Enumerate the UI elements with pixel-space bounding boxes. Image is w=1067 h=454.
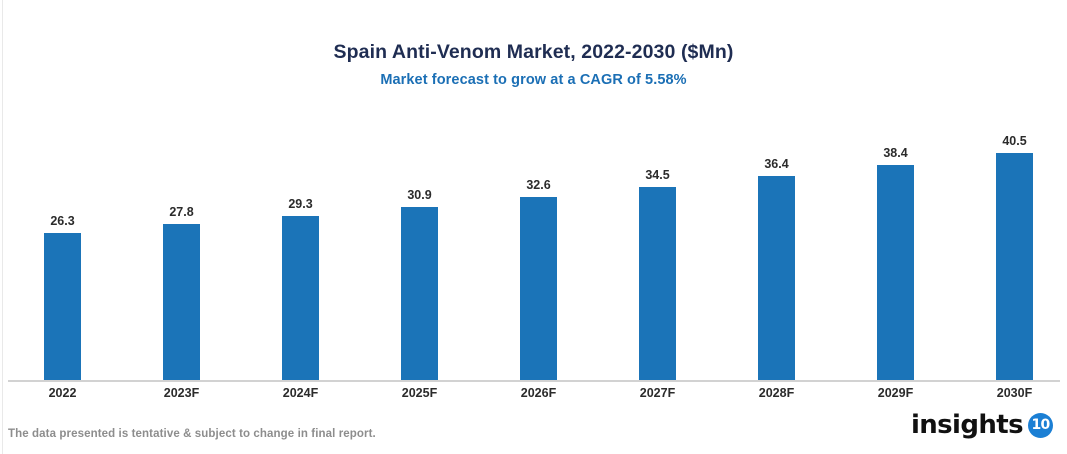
x-axis-tick-label: 2026F [521,386,556,400]
bar-group: 40.52030F [996,0,1033,454]
bar-group: 34.52027F [639,0,676,454]
bar-chart-plot: 26.3202227.82023F29.32024F30.92025F32.62… [0,0,1067,454]
x-axis-tick-label: 2022 [49,386,77,400]
logo-wordmark: insights [911,410,1023,440]
bar[interactable] [282,216,319,380]
bar[interactable] [401,207,438,380]
bar-group: 26.32022 [44,0,81,454]
bar[interactable] [996,153,1033,380]
bar[interactable] [758,176,795,380]
bar[interactable] [163,224,200,380]
bar-group: 36.42028F [758,0,795,454]
bar-group: 27.82023F [163,0,200,454]
bar-group: 29.32024F [282,0,319,454]
bar-value-label: 32.6 [526,178,550,192]
insights10-logo: insights 10 [911,408,1053,442]
x-axis-tick-label: 2024F [283,386,318,400]
bar-value-label: 36.4 [764,157,788,171]
bar-group: 30.92025F [401,0,438,454]
bar[interactable] [44,233,81,380]
bar[interactable] [877,165,914,380]
x-axis-tick-label: 2029F [878,386,913,400]
bar-value-label: 29.3 [288,197,312,211]
chart-page: Spain Anti-Venom Market, 2022-2030 ($Mn)… [0,0,1067,454]
bar-group: 38.42029F [877,0,914,454]
bar-value-label: 34.5 [645,168,669,182]
bar-value-label: 26.3 [50,214,74,228]
bar-value-label: 40.5 [1002,134,1026,148]
x-axis-tick-label: 2030F [997,386,1032,400]
bar-value-label: 27.8 [169,205,193,219]
bar-value-label: 30.9 [407,188,431,202]
bar-group: 32.62026F [520,0,557,454]
bar[interactable] [639,187,676,380]
logo-badge-icon: 10 [1028,413,1053,438]
x-axis-tick-label: 2027F [640,386,675,400]
x-axis-tick-label: 2025F [402,386,437,400]
x-axis-tick-label: 2028F [759,386,794,400]
bar[interactable] [520,197,557,380]
x-axis-tick-label: 2023F [164,386,199,400]
disclaimer-text: The data presented is tentative & subjec… [8,428,376,440]
bar-value-label: 38.4 [883,146,907,160]
